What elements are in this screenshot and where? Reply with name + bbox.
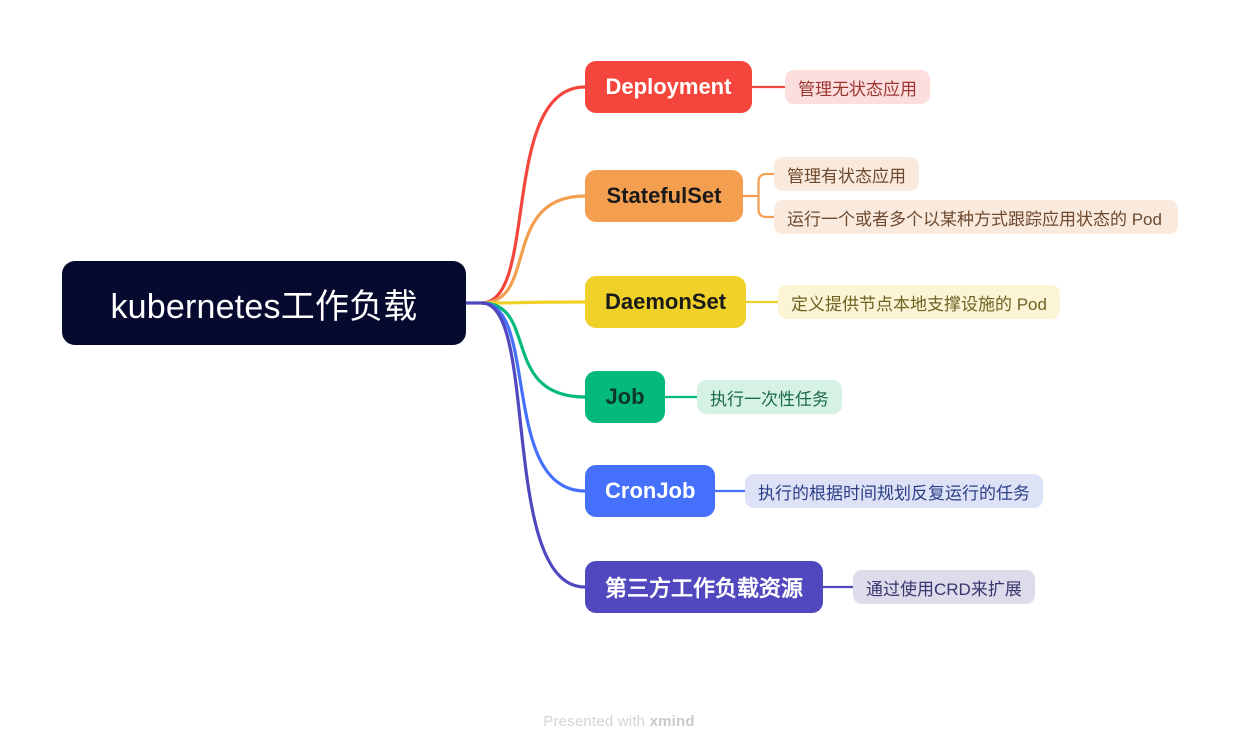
branch-node-label: StatefulSet	[607, 183, 722, 209]
leaf-node-label: 运行一个或者多个以某种方式跟踪应用状态的 Pod	[787, 205, 1162, 230]
branch-node-label: CronJob	[605, 478, 695, 504]
branch-node-statefulset[interactable]: StatefulSet	[585, 170, 743, 222]
branch-node-job[interactable]: Job	[585, 371, 665, 423]
leaf-node-daemonset-1[interactable]: 定义提供节点本地支撑设施的 Pod	[778, 285, 1060, 319]
leaf-node-label: 定义提供节点本地支撑设施的 Pod	[791, 290, 1047, 315]
root-node[interactable]: kubernetes工作负载	[62, 261, 466, 345]
leaf-node-label: 通过使用CRD来扩展	[866, 575, 1022, 600]
branch-node-label: Deployment	[606, 74, 732, 100]
leaf-node-third-party-1[interactable]: 通过使用CRD来扩展	[853, 570, 1035, 604]
leaf-node-job-1[interactable]: 执行一次性任务	[697, 380, 842, 414]
branch-node-daemonset[interactable]: DaemonSet	[585, 276, 746, 328]
footer-credit: Presented with xmind	[0, 713, 1238, 730]
branch-node-third-party[interactable]: 第三方工作负载资源	[585, 561, 823, 613]
footer-prefix: Presented with	[543, 713, 649, 730]
leaf-node-deployment-1[interactable]: 管理无状态应用	[785, 70, 930, 104]
branch-node-label: 第三方工作负载资源	[605, 571, 803, 603]
leaf-node-cronjob-1[interactable]: 执行的根据时间规划反复运行的任务	[745, 474, 1043, 508]
leaf-node-label: 管理无状态应用	[798, 75, 917, 100]
branch-node-cronjob[interactable]: CronJob	[585, 465, 715, 517]
leaf-node-label: 执行一次性任务	[710, 385, 829, 410]
leaf-node-label: 管理有状态应用	[787, 162, 906, 187]
leaf-node-statefulset-1[interactable]: 管理有状态应用	[774, 157, 919, 191]
leaf-node-statefulset-2[interactable]: 运行一个或者多个以某种方式跟踪应用状态的 Pod	[774, 200, 1178, 234]
footer-brand: xmind	[650, 713, 695, 730]
branch-node-label: Job	[605, 384, 644, 410]
branch-node-deployment[interactable]: Deployment	[585, 61, 752, 113]
mindmap-canvas: kubernetes工作负载 Deployment管理无状态应用Stateful…	[0, 0, 1238, 755]
branch-node-label: DaemonSet	[605, 289, 726, 315]
leaf-node-label: 执行的根据时间规划反复运行的任务	[758, 479, 1030, 504]
